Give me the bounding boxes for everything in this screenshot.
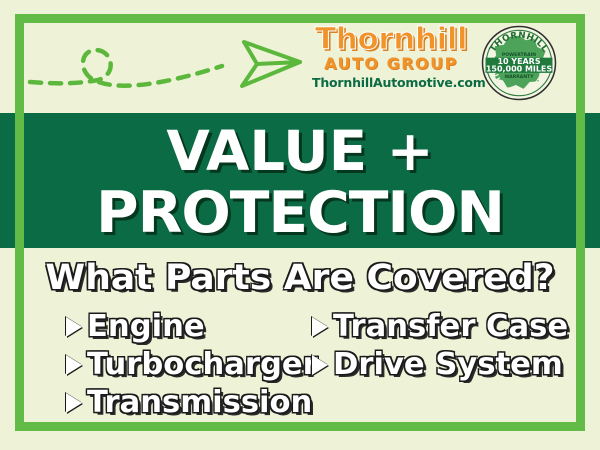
- flight-path-arrow-icon: [26, 22, 306, 108]
- seal-miles-text: 150,000 MILES: [486, 64, 552, 73]
- warranty-seal-badge: THORNHILL VALUE + PROTECTION POWERTRAIN …: [481, 25, 557, 101]
- coverage-column-right: Transfer Case Drive System: [300, 308, 600, 422]
- triangle-bullet-icon: [66, 317, 82, 337]
- logo-wordmark: Thornhill: [309, 24, 473, 56]
- coverage-item-label: Transmission: [87, 386, 312, 420]
- coverage-item-label: Turbocharger: [87, 348, 318, 382]
- logo-tagline: AUTO GROUP: [312, 55, 470, 73]
- triangle-bullet-icon: [312, 317, 328, 337]
- poster-header: Thornhill AUTO GROUP ThornhillAutomotive…: [0, 0, 600, 113]
- triangle-bullet-icon: [66, 355, 82, 375]
- coverage-section: What Parts Are Covered? Engine Turbochar…: [0, 248, 600, 450]
- thornhill-logo[interactable]: Thornhill AUTO GROUP ThornhillAutomotive…: [312, 24, 470, 106]
- logo-website: ThornhillAutomotive.com: [312, 75, 470, 90]
- coverage-column-left: Engine Turbocharger Transmission: [0, 308, 300, 422]
- headline-line-2: PROTECTION: [0, 182, 600, 244]
- list-item: Engine: [66, 308, 300, 346]
- list-item: Turbocharger: [66, 346, 300, 384]
- headline-band: VALUE + PROTECTION: [0, 113, 600, 248]
- page-title: VALUE + PROTECTION: [0, 113, 600, 244]
- list-item: Transfer Case: [312, 308, 600, 346]
- triangle-bullet-icon: [66, 393, 82, 413]
- list-item: Transmission: [66, 384, 300, 422]
- coverage-question: What Parts Are Covered?: [0, 258, 600, 298]
- coverage-item-label: Transfer Case: [333, 310, 568, 344]
- triangle-bullet-icon: [312, 355, 328, 375]
- list-item: Drive System: [312, 346, 600, 384]
- seal-warranty-text: WARRANTY: [504, 74, 534, 80]
- promo-poster: Thornhill AUTO GROUP ThornhillAutomotive…: [0, 0, 600, 450]
- coverage-item-label: Engine: [87, 310, 205, 344]
- coverage-columns: Engine Turbocharger Transmission Transfe…: [0, 308, 600, 422]
- coverage-item-label: Drive System: [333, 348, 563, 382]
- headline-line-1: VALUE +: [166, 119, 433, 183]
